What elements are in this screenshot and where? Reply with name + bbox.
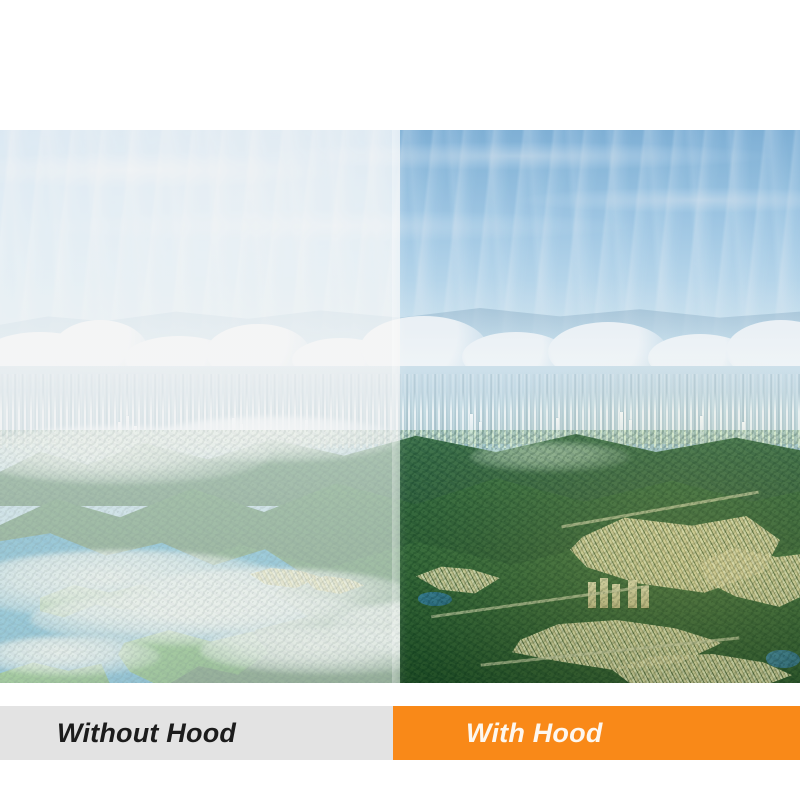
high-rise-tower	[628, 580, 637, 608]
pond	[418, 592, 452, 606]
high-rise-tower	[612, 584, 620, 608]
pond	[766, 650, 800, 668]
label-without-hood[interactable]: Without Hood	[0, 706, 393, 760]
label-with-hood[interactable]: With Hood	[393, 706, 800, 760]
high-rise-tower	[641, 586, 649, 608]
comparison-label-bar: Without Hood With Hood	[0, 706, 800, 760]
panel-with-hood[interactable]	[400, 130, 800, 683]
cirrus-streaks-soft	[400, 140, 800, 260]
scene-right	[400, 130, 800, 683]
comparison-page: Without Hood With Hood	[0, 0, 800, 800]
scene-left	[0, 130, 400, 683]
panel-without-hood[interactable]	[0, 130, 400, 683]
cirrus-streaks-soft	[0, 140, 400, 260]
comparison-photo	[0, 130, 800, 683]
city-skyline	[0, 392, 400, 448]
